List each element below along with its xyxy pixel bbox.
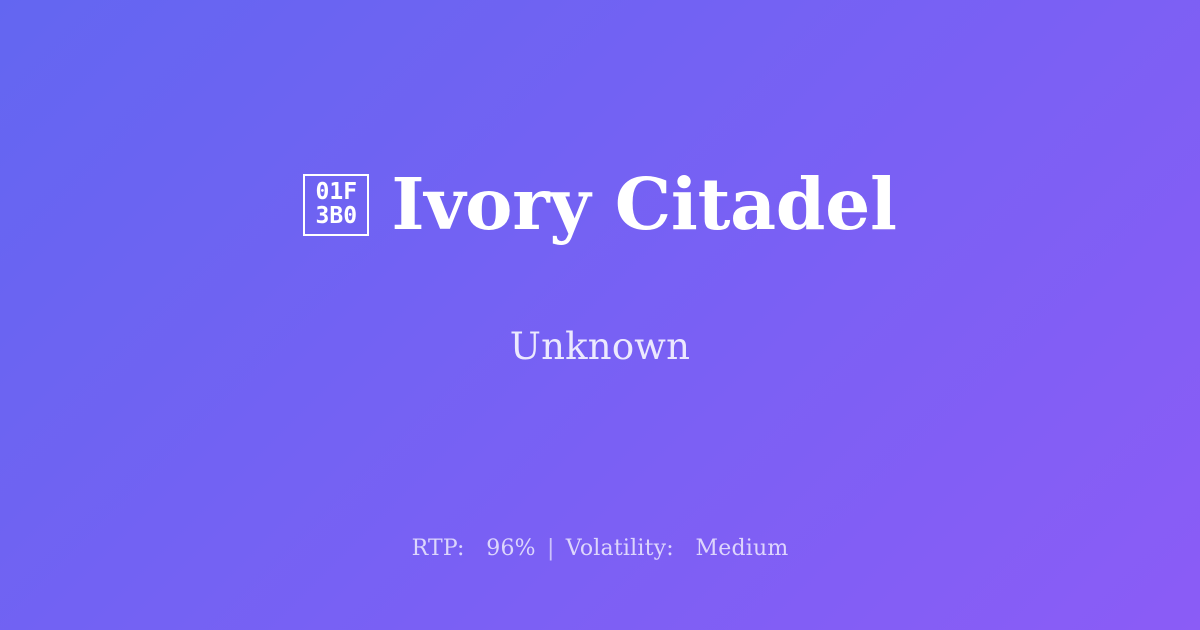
game-meta-line: RTP: 96% | Volatility: Medium (0, 536, 1200, 562)
tofu-codepoint-bottom: 3B0 (316, 205, 358, 229)
meta-separator: | (543, 536, 559, 561)
hero-block: 01F 3B0 Ivory Citadel Unknown (0, 0, 1200, 490)
title-row: 01F 3B0 Ivory Citadel (303, 120, 896, 289)
page-title: Ivory Citadel (391, 168, 896, 242)
rtp-value: 96% (486, 536, 536, 561)
rtp-label: RTP: (412, 536, 465, 561)
volatility-value: Medium (696, 536, 789, 561)
volatility-label: Volatility: (566, 536, 674, 561)
og-preview-card: 01F 3B0 Ivory Citadel Unknown RTP: 96% |… (0, 0, 1200, 630)
provider-name: Unknown (510, 325, 690, 369)
tofu-codepoint-top: 01F (316, 181, 358, 205)
slot-machine-icon: 01F 3B0 (303, 174, 369, 236)
